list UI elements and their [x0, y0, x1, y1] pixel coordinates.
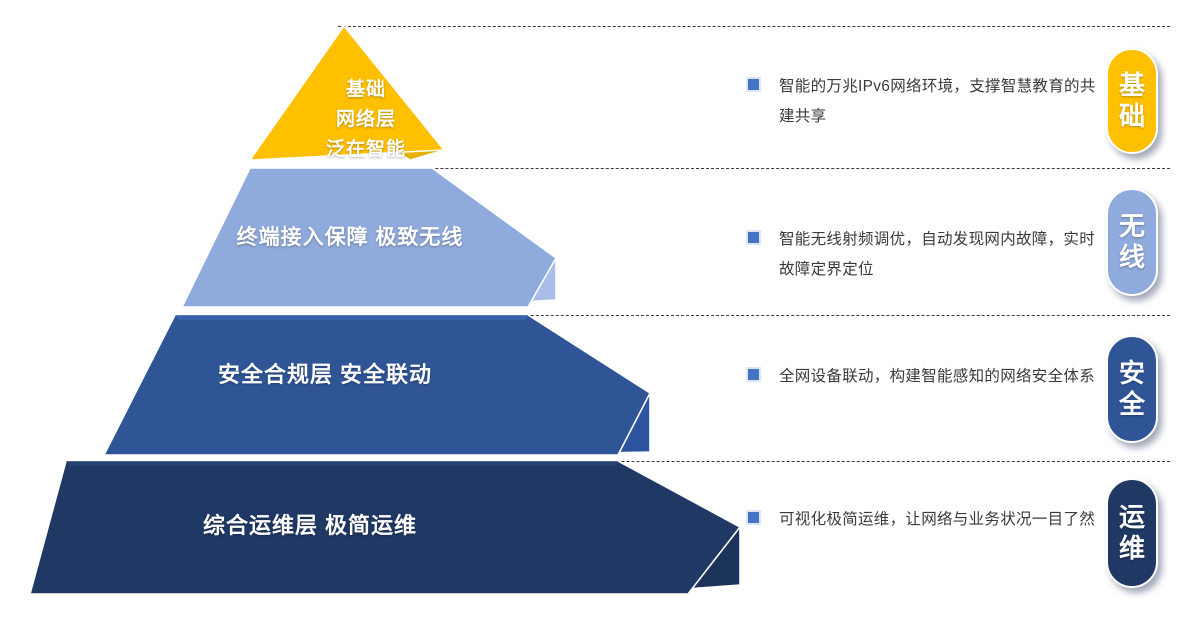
- pyramid-tier-2: [104, 315, 650, 455]
- pyramid-tier-0: [250, 26, 444, 160]
- badge-security: 安 全: [1106, 335, 1158, 443]
- pyramid-graphic: [0, 0, 780, 620]
- badge-label: 无 线: [1119, 211, 1145, 273]
- square-bullet-icon: [748, 79, 759, 90]
- bullet-text: 全网设备联动，构建智能感知的网络安全体系: [779, 362, 1096, 392]
- badge-foundation: 基 础: [1106, 48, 1158, 154]
- badge-label: 运 维: [1119, 502, 1145, 564]
- tier-1-front-face: [182, 168, 556, 307]
- tier-3-bevel: [66, 461, 618, 466]
- bullet-row: 可视化极简运维，让网络与业务状况一目了然: [748, 505, 1096, 535]
- bullet-row: 全网设备联动，构建智能感知的网络安全体系: [748, 362, 1096, 392]
- bullet-text: 智能的万兆IPv6网络环境，支撑智慧教育的共建共享: [779, 72, 1096, 132]
- pyramid-diagram-canvas: 基础 网络层 泛在智能 终端接入保障 极致无线 安全合规层 安全联动 综合运维层…: [0, 0, 1200, 620]
- pyramid-tier-3: [30, 461, 740, 594]
- badge-label: 安 全: [1119, 358, 1145, 420]
- badge-wireless: 无 线: [1106, 188, 1158, 296]
- badge-label: 基 础: [1119, 70, 1145, 132]
- tier-3-front-face: [30, 461, 740, 594]
- square-bullet-icon: [748, 232, 759, 243]
- tier-0-front-face: [250, 26, 444, 160]
- badge-operations: 运 维: [1106, 478, 1158, 588]
- square-bullet-icon: [748, 512, 759, 523]
- tier-2-front-face: [104, 315, 650, 455]
- tier-2-bevel: [175, 315, 528, 320]
- pyramid-tier-1: [182, 168, 556, 307]
- bullet-text: 可视化极简运维，让网络与业务状况一目了然: [779, 505, 1096, 535]
- bullet-row: 智能的万兆IPv6网络环境，支撑智慧教育的共建共享: [748, 72, 1096, 132]
- bullet-text: 智能无线射频调优，自动发现网内故障，实时故障定界定位: [779, 225, 1096, 285]
- square-bullet-icon: [748, 369, 759, 380]
- bullet-row: 智能无线射频调优，自动发现网内故障，实时故障定界定位: [748, 225, 1096, 285]
